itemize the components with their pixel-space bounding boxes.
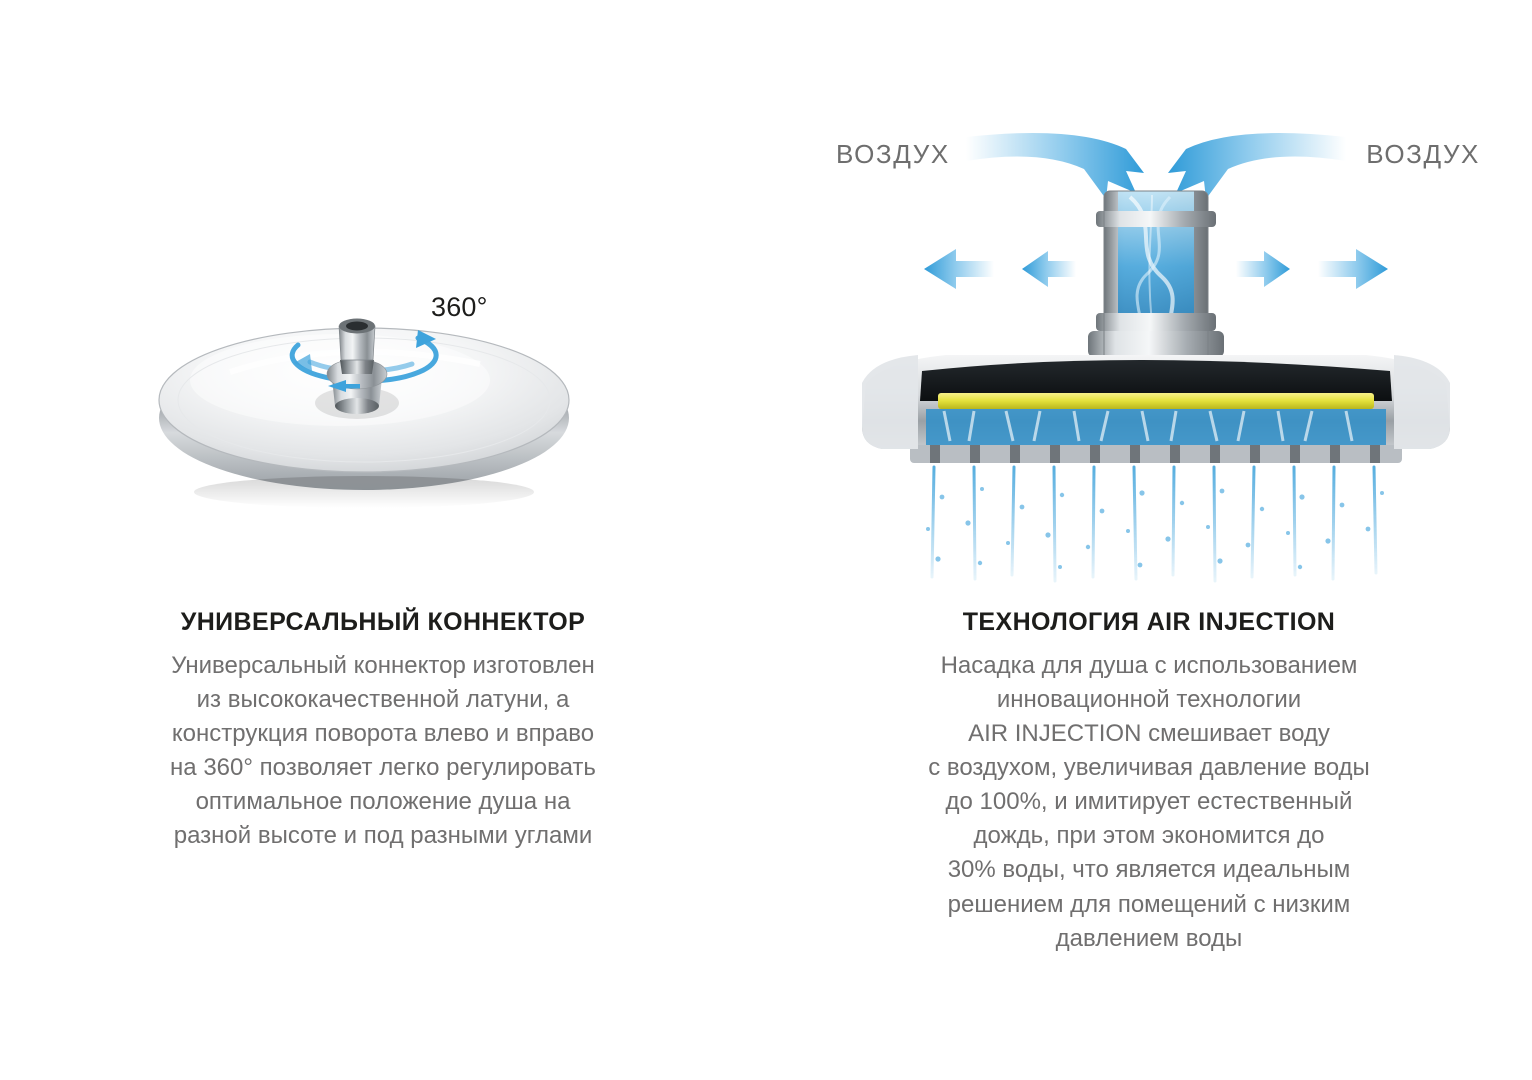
rotation-angle-label: 360° <box>431 292 488 323</box>
right-title: ТЕХНОЛОГИЯ AIR INJECTION <box>766 608 1532 637</box>
water-outlet-arrow-left-outer <box>924 249 994 289</box>
infographic-page: 360° УНИВЕРСАЛЬНЫЙ КОННЕКТОР Универсальн… <box>0 0 1532 1080</box>
shower-disc-illustration <box>150 240 610 530</box>
water-outlet-arrow-left-inner <box>1022 251 1076 287</box>
left-body-text: Универсальный коннектор изготовлен из вы… <box>111 649 656 853</box>
rotating-shower-head-disc: 360° <box>150 240 610 530</box>
water-outlet-arrow-right-outer <box>1318 249 1388 289</box>
right-text-block: ТЕХНОЛОГИЯ AIR INJECTION Насадка для душ… <box>766 608 1532 956</box>
inlet-tube-with-water <box>1088 191 1224 363</box>
air-inlet-arrow-left <box>966 133 1144 199</box>
left-title: УНИВЕРСАЛЬНЫЙ КОННЕКТОР <box>0 608 766 637</box>
left-text-block: УНИВЕРСАЛЬНЫЙ КОННЕКТОР Универсальный ко… <box>0 608 766 853</box>
panel-universal-connector: 360° УНИВЕРСАЛЬНЫЙ КОННЕКТОР Универсальн… <box>0 0 766 1080</box>
right-body-text: Насадка для душа с использованием иннова… <box>887 649 1412 956</box>
shower-head-body <box>862 355 1450 463</box>
air-injection-cutaway: ВОЗДУХ ВОЗДУХ <box>826 115 1486 595</box>
water-spray <box>926 467 1384 581</box>
panel-air-injection: ВОЗДУХ ВОЗДУХ ТЕХНОЛОГИЯ AIR INJECTION Н… <box>766 0 1532 1080</box>
air-label-right: ВОЗДУХ <box>1366 139 1480 170</box>
water-outlet-arrow-right-inner <box>1236 251 1290 287</box>
air-inlet-arrow-right <box>1168 133 1346 199</box>
air-label-left: ВОЗДУХ <box>836 139 950 170</box>
air-injection-illustration <box>826 115 1486 595</box>
